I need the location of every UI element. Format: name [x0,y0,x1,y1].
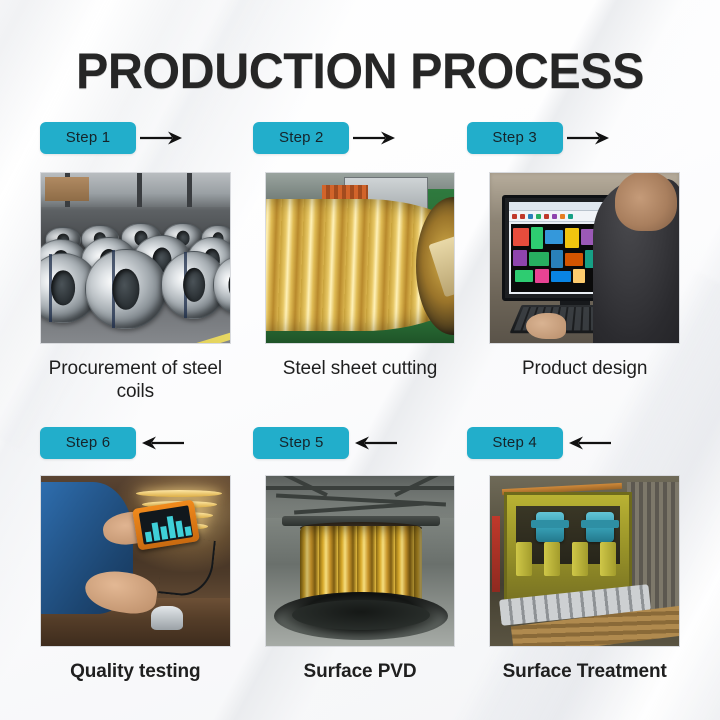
step-badge-4[interactable]: Step 4 [467,427,563,459]
arrow-right-icon [563,130,615,146]
surface-treatment-machine-photo [489,475,680,647]
quality-testing-handheld-device-photo [40,475,231,647]
production-process-infographic: PRODUCTION PROCESS Step 1 Step 2 Step 3 [0,0,720,720]
step-caption-1: Procurement of steel coils [40,344,231,403]
arrow-left-icon [349,435,401,451]
page-title: PRODUCTION PROCESS [11,0,709,96]
step-cell-3: Step 3 [467,118,680,158]
step-cell-4: Step 4 [467,423,680,463]
arrow-right-icon [136,130,188,146]
step-caption-6: Quality testing [40,647,231,683]
photo-row-bottom [0,475,720,647]
step-cell-6: Step 6 [40,423,253,463]
step-badge-row-bottom: Step 6 Step 5 Step 4 [0,423,720,463]
pvd-coating-chamber-photo [265,475,456,647]
step-cell-1: Step 1 [40,118,253,158]
steel-coils-warehouse-photo [40,172,231,344]
step-badge-2[interactable]: Step 2 [253,122,349,154]
arrow-left-icon [563,435,615,451]
step-badge-5[interactable]: Step 5 [253,427,349,459]
step-badge-row-top: Step 1 Step 2 Step 3 [0,118,720,158]
step-caption-5: Surface PVD [265,647,456,683]
cad-workstation-design-photo [489,172,680,344]
step-cell-2: Step 2 [253,118,466,158]
step-badge-1[interactable]: Step 1 [40,122,136,154]
step-caption-4: Surface Treatment [489,647,680,683]
step-badge-3[interactable]: Step 3 [467,122,563,154]
gold-steel-coil-cutting-photo [265,172,456,344]
step-cell-5: Step 5 [253,423,466,463]
step-caption-2: Steel sheet cutting [265,344,456,403]
caption-row-top: Procurement of steel coils Steel sheet c… [0,344,720,403]
photo-row-top [0,172,720,344]
arrow-right-icon [349,130,401,146]
step-caption-3: Product design [489,344,680,403]
caption-row-bottom: Quality testing Surface PVD Surface Trea… [0,647,720,683]
step-badge-6[interactable]: Step 6 [40,427,136,459]
arrow-left-icon [136,435,188,451]
